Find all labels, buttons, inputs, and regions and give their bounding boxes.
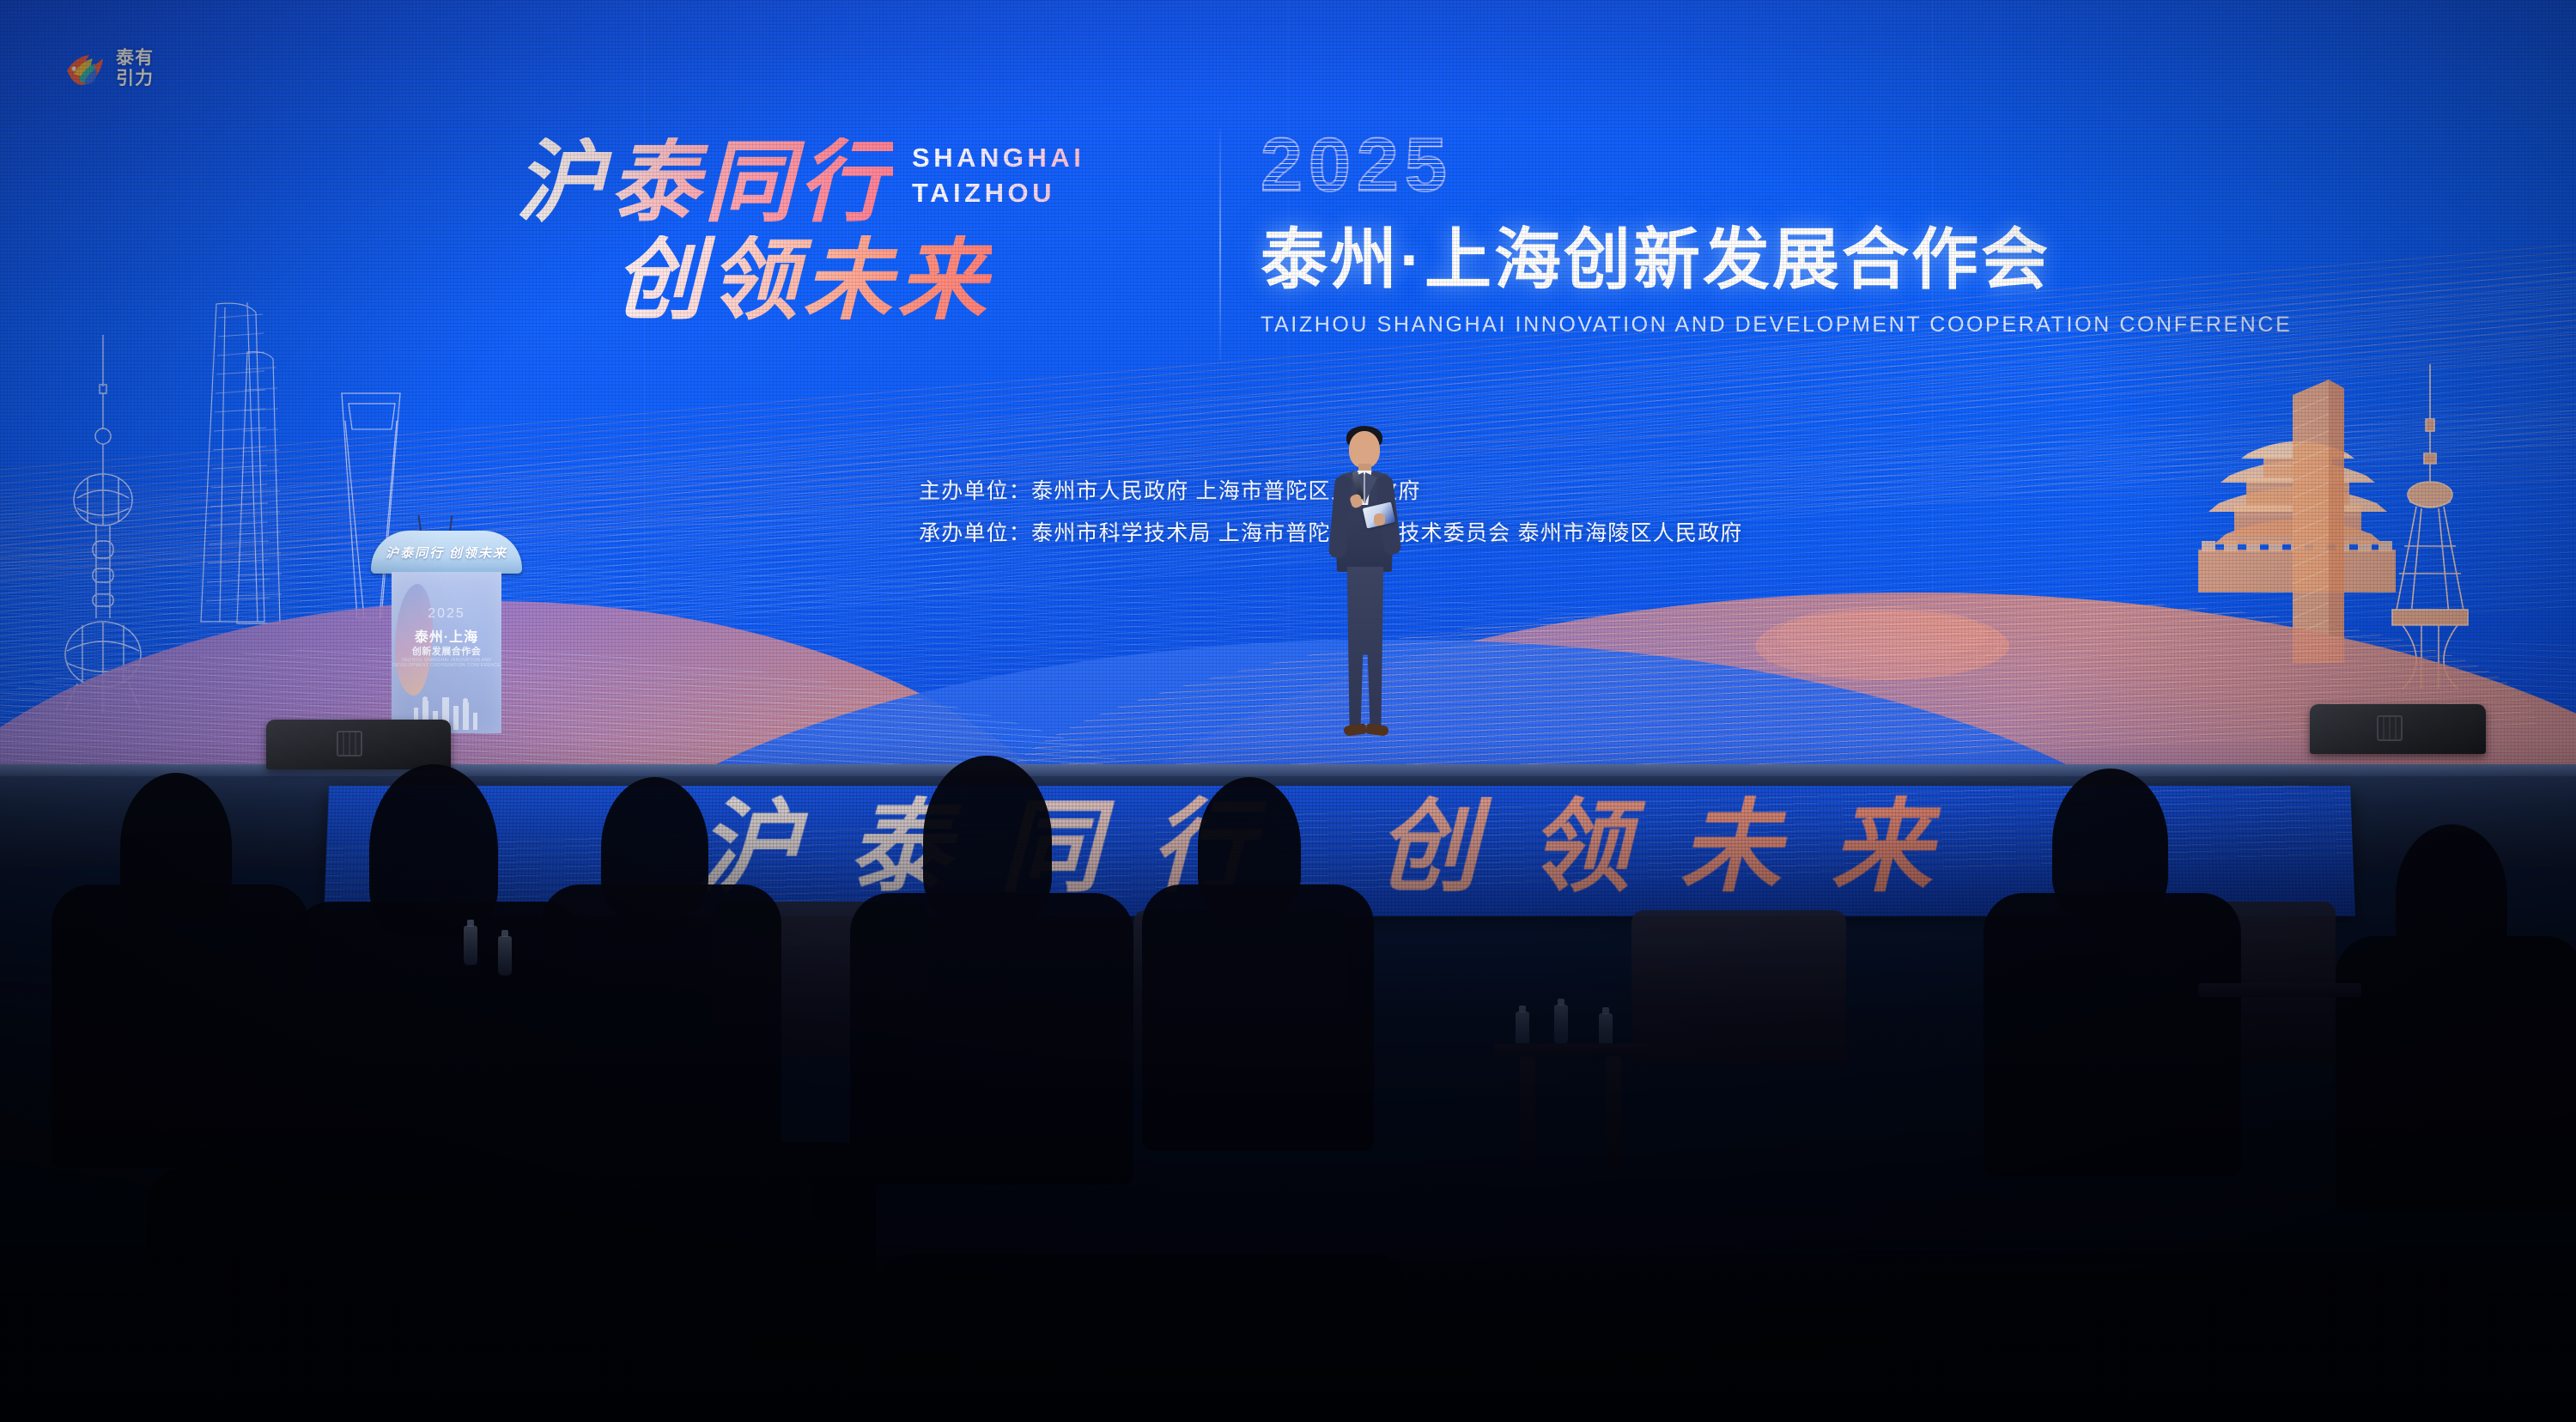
podium-title-2: 创新发展合作会	[392, 644, 501, 658]
water-bottle	[1554, 1005, 1568, 1044]
water-bottle	[498, 936, 512, 975]
audience-person-body	[850, 893, 1133, 1185]
side-table-leg	[1606, 1056, 1621, 1168]
audience-person-body	[1142, 884, 1374, 1151]
side-table-leg	[1520, 1056, 1535, 1168]
title-block: 2025 泰州·上海创新发展合作会 TAIZHOU SHANGHAI INNOV…	[1261, 127, 2292, 337]
foreground-floor-shadow	[0, 1250, 2576, 1422]
stage-front-led-strip: 沪泰同行 创领未来	[324, 786, 2355, 916]
podium: 沪泰同行 创领未来 2025 泰州·上海 创新发展合作会 TAIZHOU SHA…	[371, 515, 522, 734]
audience-person-front-body	[146, 1168, 592, 1422]
host-trousers	[1346, 567, 1385, 730]
audience-person-front	[515, 979, 704, 1237]
audience-person-front-body	[361, 1142, 876, 1422]
host-head	[1349, 431, 1380, 468]
audience-seat	[258, 910, 481, 1065]
podium-title-1: 泰州·上海	[392, 625, 501, 646]
host-hand-right	[1374, 513, 1385, 526]
audience-seat	[713, 902, 927, 1056]
led-strip-text: 沪泰同行 创领未来	[324, 787, 2354, 908]
audience-seat	[2121, 902, 2336, 1065]
podium-front-panel: 2025 泰州·上海 创新发展合作会 TAIZHOU SHANGHAI INNO…	[392, 572, 501, 733]
water-bottle	[1599, 1013, 1613, 1053]
headline-english-stack: SHANGHAI TAIZHOU	[912, 141, 1084, 211]
audience-person-body	[2336, 936, 2576, 1211]
calligraphy-line-1: 沪泰同行	[515, 137, 893, 230]
audience-person-front	[283, 1013, 455, 1237]
podium-subtitle: TAIZHOU SHANGHAI INNOVATION AND DEVELOPM…	[392, 658, 501, 668]
side-table	[2198, 983, 2361, 997]
audience-person-body	[1984, 893, 2241, 1176]
event-title-chinese: 泰州·上海创新发展合作会	[1261, 223, 2292, 295]
host-shoe-right	[1365, 723, 1388, 737]
event-year: 2025	[1261, 127, 2292, 203]
water-bottle	[1516, 1012, 1529, 1051]
audience-person-body	[52, 884, 309, 1168]
audience-seat	[1133, 910, 1348, 1065]
event-logo: 泰有 引力	[62, 45, 154, 91]
calligraphy-line-2: 创领未来	[614, 235, 992, 328]
audience-person-body	[292, 902, 584, 1194]
title-divider	[1219, 129, 1221, 361]
audience-seat	[1631, 910, 1846, 1065]
podium-year: 2025	[392, 606, 501, 622]
water-bottle	[464, 926, 477, 965]
calligraphy-headline: 沪泰同行 SHANGHAI TAIZHOU 创领未来	[515, 137, 1236, 328]
logo-text-line2: 引力	[116, 70, 154, 88]
led-strip-wave-lines	[324, 786, 2355, 916]
water-bottle	[799, 1185, 812, 1224]
audience-person-front-body	[876, 1254, 1408, 1422]
english-line-taizhou: TAIZHOU	[912, 176, 1084, 211]
gravity-fish-logo-icon	[62, 45, 108, 91]
logo-text-line1: 泰有	[116, 49, 154, 67]
audience-person-body	[541, 884, 781, 1159]
stage-monitor-speaker-right	[2310, 704, 2486, 754]
podium-top-panel: 沪泰同行 创领未来	[371, 531, 522, 574]
side-table	[1494, 1043, 1649, 1057]
host-shoe-left	[1343, 723, 1366, 737]
stage-monitor-speaker-left	[266, 720, 451, 769]
host-presenter	[1325, 422, 1404, 766]
conference-stage-photo: 泰有 引力 沪泰同行 SHANGHAI TAIZHOU 创领未来 2025 泰州…	[0, 0, 2576, 1422]
podium-top-text: 沪泰同行 创领未来	[386, 544, 507, 562]
event-title-english: TAIZHOU SHANGHAI INNOVATION AND DEVELOPM…	[1261, 313, 2292, 337]
english-line-shanghai: SHANGHAI	[912, 141, 1084, 176]
audience-person-front-body	[1889, 1271, 2490, 1422]
